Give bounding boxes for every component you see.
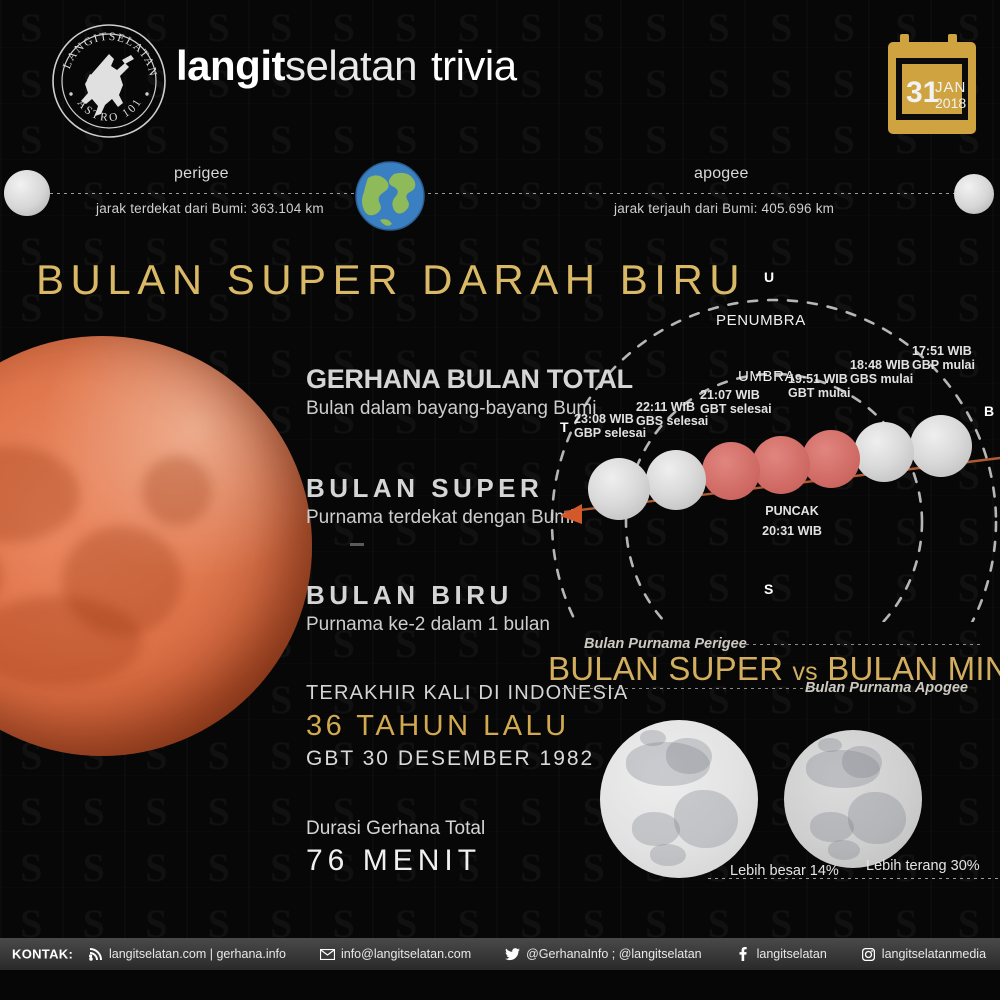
stat-brighter: Lebih terang 30% — [866, 858, 980, 874]
phase-time: 17:51 WIB — [912, 344, 975, 358]
dotted-rule-top — [746, 644, 982, 645]
contact-text: info@langitselatan.com — [341, 947, 471, 961]
phase-moon-gbs-mulai — [854, 422, 914, 482]
contact-facebook[interactable]: langitselatan — [736, 947, 827, 962]
phase-moon-gbt-selesai — [702, 442, 760, 500]
phase-label-gbt-selesai: 21:07 WIB GBT selesai — [700, 388, 772, 416]
phase-time: 21:07 WIB — [700, 388, 772, 402]
duration-block: Durasi Gerhana Total 76 MENIT — [306, 818, 485, 878]
phase-event: GBS selesai — [636, 414, 708, 428]
axis-label-east: B — [984, 404, 994, 418]
contact-text: langitselatan.com | gerhana.info — [109, 947, 286, 961]
contact-email[interactable]: info@langitselatan.com — [320, 947, 471, 962]
zone-label-penumbra: PENUMBRA — [716, 314, 806, 328]
phase-moon-gbt-mulai — [802, 430, 860, 488]
brand-title: langitselatantrivia — [176, 42, 517, 90]
super-vs-mini-section: Bulan Purnama Perigee BULAN SUPER vs BUL… — [548, 630, 1000, 900]
comparison-stats-row: Lebih besar 14% Lebih terang 30% — [548, 856, 1000, 882]
svg-text:JAN: JAN — [935, 79, 966, 96]
duration-value: 76 MENIT — [306, 844, 485, 878]
axis-label-south: S — [764, 582, 773, 596]
fact-bulan-biru: BULAN BIRU Purnama ke-2 dalam 1 bulan — [306, 580, 550, 636]
earth-icon — [354, 160, 426, 232]
fact-heading: BULAN BIRU — [306, 580, 550, 611]
langitselatan-seal-logo: LANGITSELATAN ASTRO 101 — [50, 22, 168, 140]
eclipse-path-diagram: U S T B PENUMBRA UMBRA 23:08 WIB GBP sel… — [548, 272, 1000, 622]
perigee-label: perigee — [174, 165, 229, 183]
phase-time: 19:51 WIB — [788, 372, 851, 386]
peak-label-group: PUNCAK 20:31 WIB — [744, 504, 840, 538]
phase-moon-gbp-mulai — [910, 415, 972, 477]
contact-text: langitselatan — [757, 947, 827, 961]
rss-icon — [88, 947, 103, 962]
fact-heading: BULAN SUPER — [306, 473, 574, 504]
duration-label: Durasi Gerhana Total — [306, 818, 485, 840]
fact-bulan-super: BULAN SUPER Purnama terdekat dengan Bumi — [306, 473, 574, 529]
kontak-label: KONTAK: — [12, 947, 73, 962]
apogee-detail: jarak terjauh dari Bumi: 405.696 km — [614, 201, 834, 216]
twitter-icon — [505, 947, 520, 962]
calendar-icon: 31 JAN 2018 — [886, 32, 978, 136]
brand-part-3: trivia — [431, 42, 517, 89]
section-divider — [350, 543, 364, 546]
phase-label-gbs-mulai: 18:48 WIB GBS mulai — [850, 358, 913, 386]
phase-event: GBT selesai — [700, 402, 772, 416]
apogee-label: apogee — [694, 165, 749, 183]
phase-time: 18:48 WIB — [850, 358, 913, 372]
perigee-moon-icon — [4, 170, 50, 216]
footer-bottom-spacer — [0, 970, 1000, 1000]
phase-time: 22:11 WIB — [636, 400, 708, 414]
dotted-rule-bottom — [562, 688, 822, 689]
fact-sub: Purnama ke-2 dalam 1 bulan — [306, 614, 550, 636]
contact-website[interactable]: langitselatan.com | gerhana.info — [88, 947, 286, 962]
mini-moon-caption: Bulan Purnama Apogee — [805, 680, 968, 696]
blood-moon-illustration — [0, 336, 312, 756]
contact-items: langitselatan.com | gerhana.info info@la… — [88, 947, 1000, 962]
contact-text: @GerhanaInfo ; @langitselatan — [526, 947, 701, 961]
phase-moon-gbp-selesai — [588, 458, 650, 520]
phase-event: GBS mulai — [850, 372, 913, 386]
brand-part-2: selatan — [285, 42, 417, 89]
axis-label-north: U — [764, 270, 774, 284]
phase-label-gbt-mulai: 19:51 WIB GBT mulai — [788, 372, 851, 400]
mini-moon-disc — [784, 730, 922, 868]
phase-moon-gbs-selesai — [646, 450, 706, 510]
phase-event: GBP mulai — [912, 358, 975, 372]
phase-moon-puncak — [752, 436, 810, 494]
axis-label-west: T — [560, 420, 569, 434]
fact-sub: Purnama terdekat dengan Bumi — [306, 507, 574, 529]
contact-footer-bar: KONTAK: langitselatan.com | gerhana.info… — [0, 938, 1000, 970]
orbit-connector-line — [22, 193, 978, 194]
perigee-detail: jarak terdekat dari Bumi: 363.104 km — [96, 201, 324, 216]
facebook-icon — [736, 947, 751, 962]
phase-event: GBT mulai — [788, 386, 851, 400]
mail-icon — [320, 947, 335, 962]
apogee-moon-icon — [954, 174, 994, 214]
zone-label-umbra: UMBRA — [738, 370, 795, 384]
phase-label-gbs-selesai: 22:11 WIB GBS selesai — [636, 400, 708, 428]
brand-part-1: langit — [176, 42, 285, 89]
phase-event: GBP selesai — [574, 426, 646, 440]
svg-text:2018: 2018 — [935, 95, 966, 111]
peak-label: PUNCAK — [744, 504, 840, 518]
super-moon-disc — [600, 720, 758, 878]
title-left: BULAN SUPER — [548, 650, 783, 687]
contact-twitter[interactable]: @GerhanaInfo ; @langitselatan — [505, 947, 701, 962]
phase-label-gbp-mulai: 17:51 WIB GBP mulai — [912, 344, 975, 372]
infographic-root: SSSSSSSSSSSSSSSSSSSSSSSSSSSSSSSSSSSSSSSS… — [0, 0, 1000, 1000]
contact-text: langitselatanmedia — [882, 947, 986, 961]
contact-instagram[interactable]: langitselatanmedia — [861, 947, 986, 962]
stat-bigger: Lebih besar 14% — [730, 863, 839, 879]
instagram-icon — [861, 947, 876, 962]
peak-time: 20:31 WIB — [744, 524, 840, 538]
